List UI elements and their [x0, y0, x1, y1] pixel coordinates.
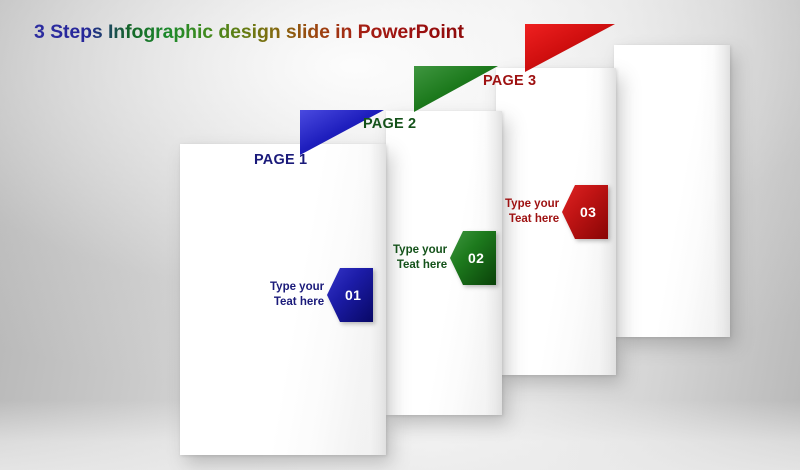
step-hexagon-1[interactable]: 01: [327, 268, 373, 322]
step-hexagon-3[interactable]: 03: [562, 185, 608, 239]
step-label-3: Type your Teat here: [505, 197, 562, 227]
corner-triangle-icon-red: [525, 24, 615, 72]
step-label-2: Type your Teat here: [393, 243, 450, 273]
page-label-3: PAGE 3: [483, 73, 536, 89]
page-label-2: PAGE 2: [363, 116, 416, 132]
step-label-1: Type your Teat here: [270, 280, 327, 310]
panel-fold-shading-4: [700, 45, 730, 337]
step-callout-2[interactable]: Type your Teat here 02: [393, 231, 496, 285]
step-label-line1-2: Type your: [393, 243, 447, 258]
step-label-line2-1: Teat here: [270, 295, 324, 310]
step-label-line1-3: Type your: [505, 197, 559, 212]
step-callout-3[interactable]: Type your Teat here 03: [505, 185, 608, 239]
step-label-line1-1: Type your: [270, 280, 324, 295]
step-label-line2-2: Teat here: [393, 258, 447, 273]
page-title: 3 Steps Infographic design slide in Powe…: [34, 21, 464, 44]
step-callout-1[interactable]: Type your Teat here 01: [270, 268, 373, 322]
step-hexagon-2[interactable]: 02: [450, 231, 496, 285]
page-label-1: PAGE 1: [254, 152, 307, 168]
panel-card-4[interactable]: [614, 45, 730, 337]
step-label-line2-3: Teat here: [505, 212, 559, 227]
slide-canvas: 3 Steps Infographic design slide in Powe…: [0, 0, 800, 470]
